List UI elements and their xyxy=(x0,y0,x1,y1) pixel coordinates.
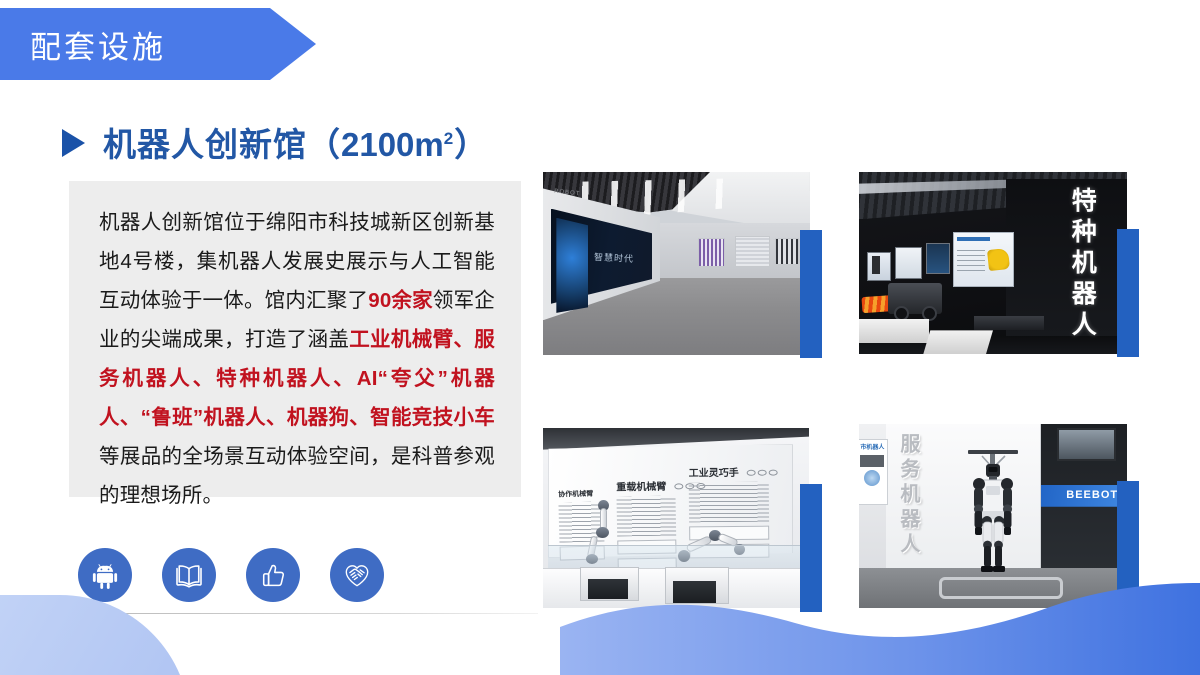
bottom-left-blob-decoration xyxy=(0,595,190,675)
header-banner-title: 配套设施 xyxy=(30,22,166,67)
feature-icon-row xyxy=(78,548,384,602)
thumbs-up-icon[interactable] xyxy=(246,548,300,602)
description-segment-4: 等展品的全场景互动体验空间，是科普参观的理想场所。 xyxy=(99,445,495,507)
open-book-icon[interactable] xyxy=(162,548,216,602)
photo-humanoid-robot: BEEBOT 服务机器人 市机器人 xyxy=(859,424,1127,608)
page-title: 机器人创新馆（2100m2） xyxy=(103,118,488,166)
header-banner: 配套设施 xyxy=(0,8,316,80)
section-title-area-number: 2100 xyxy=(341,126,414,163)
photo4-wall-text: 服务机器人 xyxy=(894,433,923,558)
photo-exhibition-hall: 智慧时代 ROBOT xyxy=(543,172,810,355)
section-title-area-unit: m xyxy=(414,126,443,163)
handshake-heart-icon[interactable] xyxy=(330,548,384,602)
photo2-wall-text: 特种机器人 xyxy=(1064,187,1100,342)
section-title-paren-open: （ xyxy=(307,126,341,163)
photo4-brand-text: BEEBOT xyxy=(1066,489,1118,501)
photo3-panel-title-2: 重载机械臂 xyxy=(617,482,667,494)
triangle-right-icon xyxy=(62,129,85,157)
section-title-main: 机器人创新馆 xyxy=(103,126,307,163)
description-segment-1: 90余家 xyxy=(368,289,433,312)
android-robot-icon[interactable] xyxy=(78,548,132,602)
photo4-humanoid-robot-figure xyxy=(960,450,1026,580)
photo1-accent-bar xyxy=(800,230,822,358)
photo-industrial-arms: 协作机械臂 重载机械臂 工业灵巧手 xyxy=(543,428,809,608)
photo3-panel-title-1: 协作机械臂 xyxy=(558,489,603,500)
description-paragraph: 机器人创新馆位于绵阳市科技城新区创新基地4号楼，集机器人发展史展示与人工智能互动… xyxy=(99,203,495,515)
section-title-row: 机器人创新馆（2100m2） xyxy=(62,118,488,166)
photo3-panel-title-3: 工业灵巧手 xyxy=(689,468,739,479)
bottom-wave-decoration xyxy=(560,583,1200,675)
section-divider xyxy=(70,613,538,614)
section-title-area-sup: 2 xyxy=(444,129,454,148)
photo2-accent-bar xyxy=(1117,229,1139,357)
description-textbox: 机器人创新馆位于绵阳市科技城新区创新基地4号楼，集机器人发展史展示与人工智能互动… xyxy=(69,181,521,497)
photo1-wall-text: 智慧时代 xyxy=(593,250,634,265)
section-title-paren-close: ） xyxy=(454,126,488,163)
slide-root: 配套设施 机器人创新馆（2100m2） 机器人创新馆位于绵阳市科技城新区创新基地… xyxy=(0,0,1200,675)
photo-special-robots: 特种机器人 xyxy=(859,172,1127,354)
photo4-poster-text: 市机器人 xyxy=(859,440,887,453)
